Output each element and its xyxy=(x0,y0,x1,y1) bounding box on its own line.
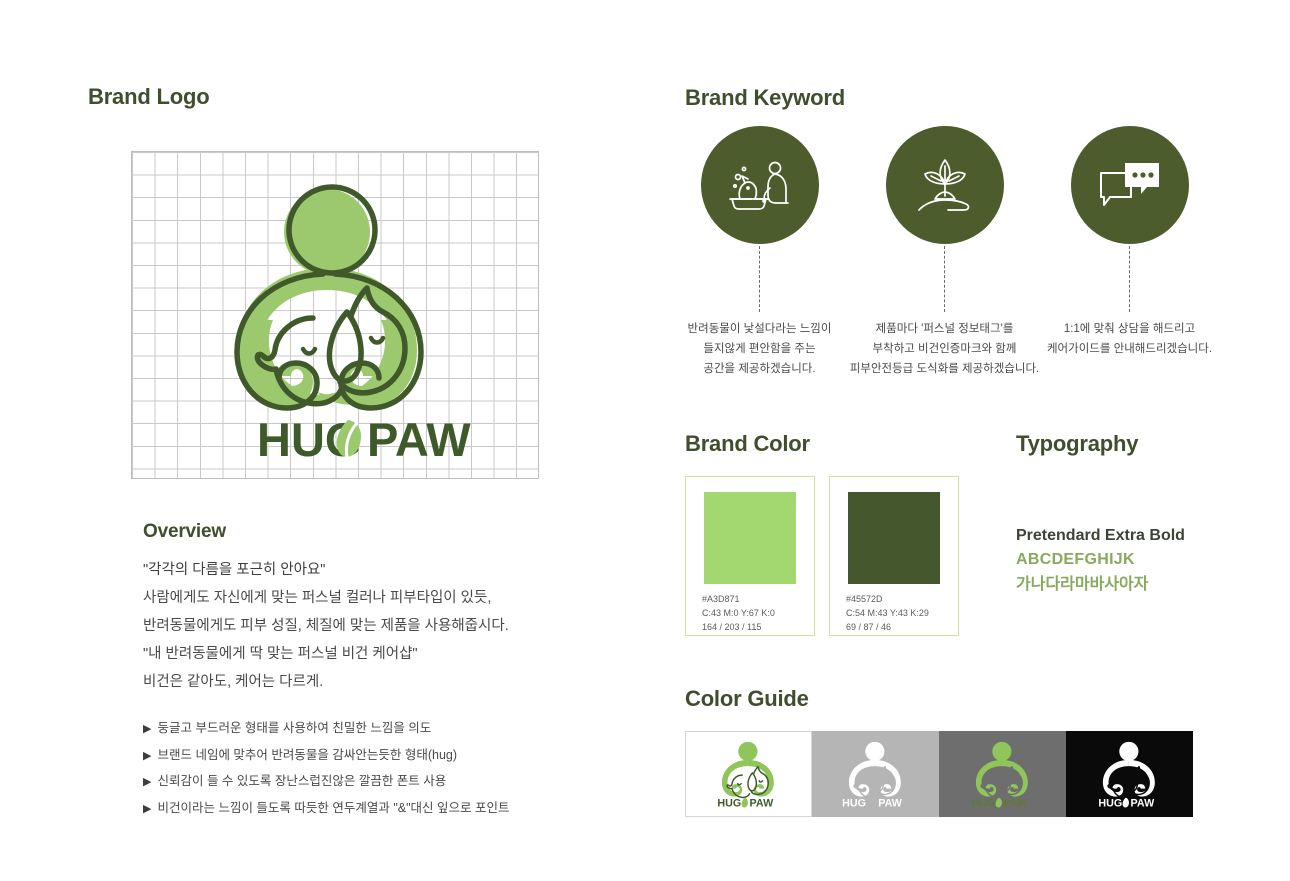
typography-heading: Typography xyxy=(1016,431,1138,457)
triangle-marker-icon: ▶ xyxy=(143,797,151,823)
chat-bubbles-icon xyxy=(1097,159,1163,211)
sprout-in-hand-icon xyxy=(912,154,978,216)
leaf-icon xyxy=(995,798,1001,808)
connector-line xyxy=(1129,246,1130,312)
list-item: ▶ 브랜드 네임에 맞추어 반려동물을 감싸안는듯한 형태(hug) xyxy=(143,743,573,770)
color-guide-variant-dark-gray: HUG PAW xyxy=(939,731,1066,817)
color-chip xyxy=(704,492,796,584)
variant-wordmark-hug: HUG xyxy=(717,798,741,809)
color-guide-variant-light-gray: HUG PAW xyxy=(812,731,939,817)
color-swatch-card: #45572D C:54 M:43 Y:43 K:29 69 / 87 / 46 xyxy=(829,476,959,636)
keyword-description: 반려동물이 낯설다라는 느낌이 들지않게 편안함을 주는 공간을 제공하겠습니다… xyxy=(688,319,832,379)
typography-sample: Pretendard Extra Bold ABCDEFGHIJK 가나다라마바… xyxy=(1016,523,1185,597)
color-rgb: 164 / 203 / 115 xyxy=(702,620,775,634)
wordmark-paw: PAW xyxy=(367,413,471,460)
variant-wordmark-paw: PAW xyxy=(1130,798,1155,809)
color-guide-heading: Color Guide xyxy=(685,686,809,712)
overview-line: "각각의 다름을 포근히 안아요" xyxy=(143,556,563,584)
keyword-icon-badge xyxy=(886,126,1004,244)
color-guide-variant-black: HUG PAW xyxy=(1066,731,1193,817)
overview-line: 비건은 같아도, 케어는 다르게. xyxy=(143,668,563,696)
typeface-latin-sample: ABCDEFGHIJK xyxy=(1016,548,1185,572)
keyword-icon-badge xyxy=(701,126,819,244)
logo-variant-svg: HUG PAW xyxy=(963,739,1043,809)
typeface-name: Pretendard Extra Bold xyxy=(1016,523,1185,548)
variant-wordmark-paw: PAW xyxy=(1003,798,1028,809)
color-guide-variant-white: HUG PAW xyxy=(685,731,812,817)
brand-guideline-page: Brand Logo xyxy=(0,0,1290,881)
leaf-icon xyxy=(1122,798,1128,808)
brand-color-heading: Brand Color xyxy=(685,431,810,457)
overview-line: 반려동물에게도 피부 성질, 체질에 맞는 제품을 사용해줍시다. xyxy=(143,612,563,640)
color-meta: #A3D871 C:43 M:0 Y:67 K:0 164 / 203 / 11… xyxy=(702,592,775,634)
color-guide-list: HUG PAW HUG PAW xyxy=(685,731,1193,817)
overview-heading: Overview xyxy=(143,521,226,543)
bullet-label: 비건이라는 느낌이 들도록 따듯한 연두계열과 "&"대신 잎으로 포인트 xyxy=(157,796,509,822)
connector-line xyxy=(944,246,945,312)
variant-wordmark-hug: HUG xyxy=(971,798,995,809)
list-item: ▶ 둥글고 부드러운 형태를 사용하여 친밀한 느낌을 의도 xyxy=(143,716,573,743)
typeface-hangul-sample: 가나다라마바사아자 xyxy=(1016,572,1185,597)
triangle-marker-icon: ▶ xyxy=(143,744,151,770)
keyword-description: 1:1에 맞춰 상담을 해드리고 케어가이드를 안내해드리겠습니다. xyxy=(1047,319,1212,359)
color-hex: #45572D xyxy=(846,592,929,606)
triangle-marker-icon: ▶ xyxy=(143,717,151,743)
color-meta: #45572D C:54 M:43 Y:43 K:29 69 / 87 / 46 xyxy=(846,592,929,634)
triangle-marker-icon: ▶ xyxy=(143,770,151,796)
logo-grid-frame: HUG PAW xyxy=(131,151,539,479)
bullet-label: 둥글고 부드러운 형태를 사용하여 친밀한 느낌을 의도 xyxy=(157,716,431,742)
brand-keyword-heading: Brand Keyword xyxy=(685,85,845,111)
brand-logo-heading: Brand Logo xyxy=(88,84,209,110)
keyword-item-consult: 1:1에 맞춰 상담을 해드리고 케어가이드를 안내해드리겠습니다. xyxy=(1037,126,1222,359)
keyword-icon-badge xyxy=(1071,126,1189,244)
logo-variant-svg: HUG PAW xyxy=(1090,739,1170,809)
logo-wordmark: HUG PAW xyxy=(257,413,471,460)
logo-variant-svg: HUG PAW xyxy=(709,739,789,809)
person-bathing-dog-icon xyxy=(726,155,794,215)
list-item: ▶ 비건이라는 느낌이 들도록 따듯한 연두계열과 "&"대신 잎으로 포인트 xyxy=(143,796,573,823)
variant-wordmark-hug: HUG xyxy=(1098,798,1122,809)
variant-wordmark-hug: HUG xyxy=(842,798,866,809)
keyword-item-bathing: 반려동물이 낯설다라는 느낌이 들지않게 편안함을 주는 공간을 제공하겠습니다… xyxy=(667,126,852,379)
hug-paw-logo-svg: HUG PAW xyxy=(185,170,485,460)
color-cmyk: C:43 M:0 Y:67 K:0 xyxy=(702,606,775,620)
list-item: ▶ 신뢰감이 들 수 있도록 장난스럽진않은 깔끔한 폰트 사용 xyxy=(143,769,573,796)
connector-line xyxy=(759,246,760,312)
color-chip xyxy=(848,492,940,584)
color-rgb: 69 / 87 / 46 xyxy=(846,620,929,634)
keyword-item-vegan: 제품마다 '퍼스널 정보태그'를 부착하고 비건인증마크와 함께 피부안전등급 … xyxy=(852,126,1037,379)
variant-wordmark-paw: PAW xyxy=(749,798,774,809)
leaf-icon xyxy=(741,798,747,808)
variant-wordmark-paw: PAW xyxy=(878,798,903,809)
primary-logo: HUG PAW xyxy=(132,152,538,478)
overview-line: 사람에게도 자신에게 맞는 퍼스널 컬러나 피부타입이 있듯, xyxy=(143,584,563,612)
overview-text: "각각의 다름을 포근히 안아요" 사람에게도 자신에게 맞는 퍼스널 컬러나 … xyxy=(143,556,563,696)
keyword-description: 제품마다 '퍼스널 정보태그'를 부착하고 비건인증마크와 함께 피부안전등급 … xyxy=(850,319,1039,379)
overview-bullet-list: ▶ 둥글고 부드러운 형태를 사용하여 친밀한 느낌을 의도 ▶ 브랜드 네임에… xyxy=(143,716,573,822)
bullet-label: 브랜드 네임에 맞추어 반려동물을 감싸안는듯한 형태(hug) xyxy=(157,743,457,769)
brand-keyword-list: 반려동물이 낯설다라는 느낌이 들지않게 편안함을 주는 공간을 제공하겠습니다… xyxy=(685,126,1245,396)
color-swatch-card: #A3D871 C:43 M:0 Y:67 K:0 164 / 203 / 11… xyxy=(685,476,815,636)
bullet-label: 신뢰감이 들 수 있도록 장난스럽진않은 깔끔한 폰트 사용 xyxy=(157,769,446,795)
logo-variant-svg: HUG PAW xyxy=(836,739,916,809)
overview-line: "내 반려동물에게 딱 맞는 퍼스널 비건 케어샵" xyxy=(143,640,563,668)
color-cmyk: C:54 M:43 Y:43 K:29 xyxy=(846,606,929,620)
color-hex: #A3D871 xyxy=(702,592,775,606)
